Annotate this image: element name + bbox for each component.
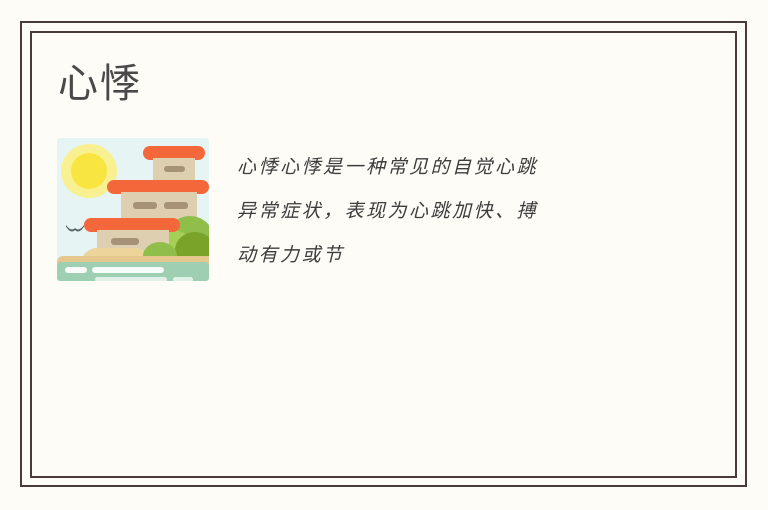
placeholder-bar-4 (173, 277, 193, 281)
article-content: 心悸 (32, 33, 735, 476)
article-body-line: 心悸心悸是一种常见的自觉心跳 (237, 145, 657, 189)
article-body-line: 异常症状，表现为心跳加快、搏 (237, 189, 657, 233)
article-body: 心悸心悸是一种常见的自觉心跳 异常症状，表现为心跳加快、搏 动有力或节 (237, 145, 657, 277)
bird-icon (65, 224, 85, 234)
pagoda-window-middle-right (164, 202, 188, 209)
placeholder-bar-1 (65, 267, 87, 273)
page-root: 心悸 (0, 0, 768, 510)
article-body-line: 动有力或节 (237, 233, 657, 277)
page-title: 心悸 (58, 62, 142, 106)
pagoda-window-top (164, 166, 185, 172)
pagoda-window-bottom (111, 238, 139, 245)
placeholder-bar-2 (92, 267, 164, 273)
pagoda-window-middle-left (133, 202, 157, 209)
pagoda-landscape-illustration (57, 138, 209, 281)
placeholder-bar-3 (95, 277, 167, 281)
sun-icon (71, 153, 107, 189)
